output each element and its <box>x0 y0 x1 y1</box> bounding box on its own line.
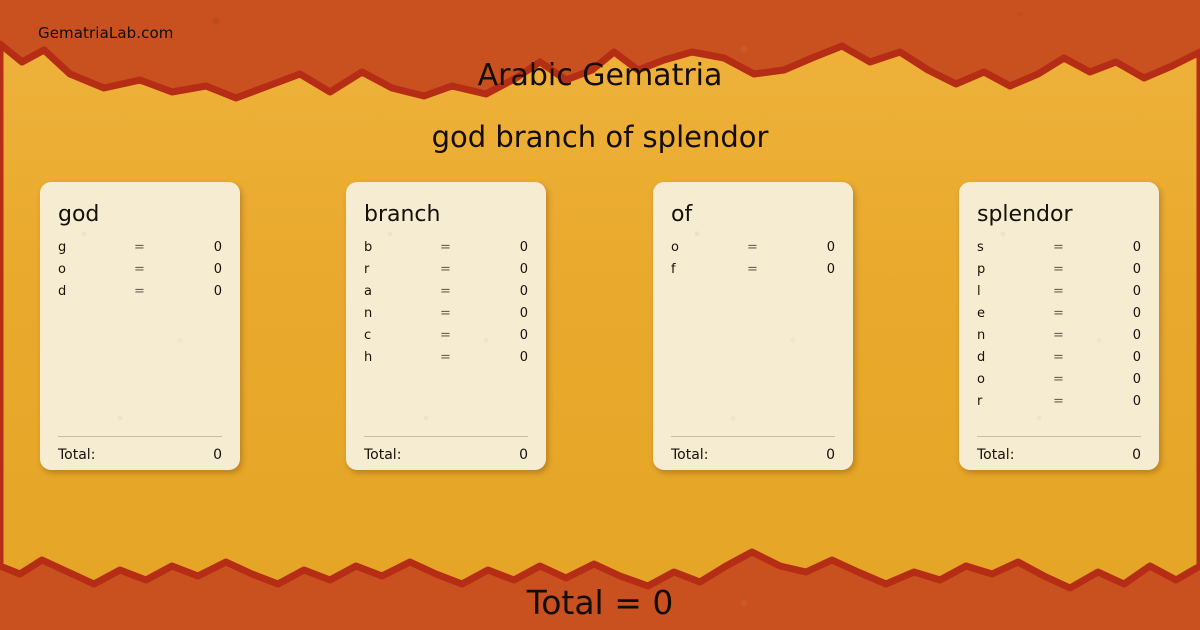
letter-row: n=0 <box>977 328 1141 350</box>
letter-label: a <box>364 284 440 299</box>
card-total-row: Total:0 <box>58 447 222 479</box>
equals-sign: = <box>1053 350 1097 365</box>
letter-value: 0 <box>484 262 528 277</box>
equals-sign: = <box>440 284 484 299</box>
letter-label: p <box>977 262 1053 277</box>
card-total-value: 0 <box>1132 447 1141 463</box>
card-total-row: Total:0 <box>977 447 1141 479</box>
equals-sign: = <box>440 328 484 343</box>
equals-sign: = <box>440 262 484 277</box>
letter-row: r=0 <box>977 394 1141 416</box>
card-divider <box>977 436 1141 437</box>
card-total-label: Total: <box>364 447 519 463</box>
letter-row: p=0 <box>977 262 1141 284</box>
letter-label: n <box>364 306 440 321</box>
card-word-title: splendor <box>977 204 1141 226</box>
letter-value: 0 <box>1097 394 1141 409</box>
equals-sign: = <box>134 262 178 277</box>
card-total-label: Total: <box>58 447 213 463</box>
letter-value: 0 <box>1097 240 1141 255</box>
letter-value: 0 <box>1097 284 1141 299</box>
letter-label: f <box>671 262 747 277</box>
equals-sign: = <box>1053 328 1097 343</box>
word-card: ofo=0f=0Total:0 <box>653 182 853 470</box>
card-divider <box>671 436 835 437</box>
letter-value: 0 <box>178 240 222 255</box>
letter-row: n=0 <box>364 306 528 328</box>
equals-sign: = <box>1053 240 1097 255</box>
letter-label: d <box>977 350 1053 365</box>
card-total-value: 0 <box>213 447 222 463</box>
letter-label: r <box>977 394 1053 409</box>
letter-value: 0 <box>1097 328 1141 343</box>
letter-value: 0 <box>1097 350 1141 365</box>
card-divider <box>364 436 528 437</box>
card-word-title: branch <box>364 204 528 226</box>
letter-row: r=0 <box>364 262 528 284</box>
page-subtitle: god branch of splendor <box>0 120 1200 154</box>
card-word-title: god <box>58 204 222 226</box>
card-divider <box>58 436 222 437</box>
letter-value: 0 <box>1097 262 1141 277</box>
equals-sign: = <box>747 240 791 255</box>
word-card: godg=0o=0d=0Total:0 <box>40 182 240 470</box>
equals-sign: = <box>134 284 178 299</box>
letter-row: d=0 <box>58 284 222 306</box>
letter-row: b=0 <box>364 240 528 262</box>
letter-value: 0 <box>791 240 835 255</box>
letter-label: s <box>977 240 1053 255</box>
letter-value: 0 <box>178 284 222 299</box>
letter-value: 0 <box>178 262 222 277</box>
card-total-value: 0 <box>826 447 835 463</box>
equals-sign: = <box>1053 306 1097 321</box>
letter-value: 0 <box>1097 372 1141 387</box>
letter-value-rows: b=0r=0a=0n=0c=0h=0 <box>364 240 528 372</box>
letter-label: o <box>977 372 1053 387</box>
letter-label: r <box>364 262 440 277</box>
letter-value: 0 <box>1097 306 1141 321</box>
equals-sign: = <box>440 306 484 321</box>
equals-sign: = <box>1053 262 1097 277</box>
card-spacer <box>671 284 835 436</box>
letter-label: h <box>364 350 440 365</box>
equals-sign: = <box>1053 284 1097 299</box>
card-total-row: Total:0 <box>364 447 528 479</box>
card-total-row: Total:0 <box>671 447 835 479</box>
letter-row: d=0 <box>977 350 1141 372</box>
equals-sign: = <box>1053 372 1097 387</box>
letter-label: d <box>58 284 134 299</box>
letter-label: l <box>977 284 1053 299</box>
equals-sign: = <box>1053 394 1097 409</box>
letter-value: 0 <box>484 350 528 365</box>
word-card: branchb=0r=0a=0n=0c=0h=0Total:0 <box>346 182 546 470</box>
word-card: splendors=0p=0l=0e=0n=0d=0o=0r=0Total:0 <box>959 182 1159 470</box>
letter-row: f=0 <box>671 262 835 284</box>
equals-sign: = <box>440 240 484 255</box>
letter-label: g <box>58 240 134 255</box>
card-spacer <box>364 372 528 436</box>
equals-sign: = <box>134 240 178 255</box>
letter-value: 0 <box>484 328 528 343</box>
card-spacer <box>977 416 1141 436</box>
card-total-label: Total: <box>977 447 1132 463</box>
letter-row: g=0 <box>58 240 222 262</box>
letter-row: o=0 <box>58 262 222 284</box>
letter-row: c=0 <box>364 328 528 350</box>
letter-value: 0 <box>484 240 528 255</box>
letter-row: h=0 <box>364 350 528 372</box>
letter-label: e <box>977 306 1053 321</box>
poster-canvas: GematriaLab.com Arabic Gematria god bran… <box>0 0 1200 630</box>
letter-row: e=0 <box>977 306 1141 328</box>
equals-sign: = <box>440 350 484 365</box>
letter-row: s=0 <box>977 240 1141 262</box>
word-card-list: godg=0o=0d=0Total:0branchb=0r=0a=0n=0c=0… <box>0 182 1200 482</box>
page-title: Arabic Gematria <box>0 58 1200 93</box>
letter-label: o <box>671 240 747 255</box>
letter-value: 0 <box>484 306 528 321</box>
letter-label: b <box>364 240 440 255</box>
site-logo[interactable]: GematriaLab.com <box>38 24 173 42</box>
card-total-label: Total: <box>671 447 826 463</box>
grand-total: Total = 0 <box>0 583 1200 622</box>
letter-value-rows: o=0f=0 <box>671 240 835 284</box>
letter-value-rows: s=0p=0l=0e=0n=0d=0o=0r=0 <box>977 240 1141 416</box>
letter-label: c <box>364 328 440 343</box>
letter-label: n <box>977 328 1053 343</box>
letter-value: 0 <box>484 284 528 299</box>
letter-row: a=0 <box>364 284 528 306</box>
card-word-title: of <box>671 204 835 226</box>
letter-value-rows: g=0o=0d=0 <box>58 240 222 306</box>
equals-sign: = <box>747 262 791 277</box>
card-spacer <box>58 306 222 436</box>
letter-row: o=0 <box>671 240 835 262</box>
letter-label: o <box>58 262 134 277</box>
letter-row: l=0 <box>977 284 1141 306</box>
letter-row: o=0 <box>977 372 1141 394</box>
letter-value: 0 <box>791 262 835 277</box>
card-total-value: 0 <box>519 447 528 463</box>
